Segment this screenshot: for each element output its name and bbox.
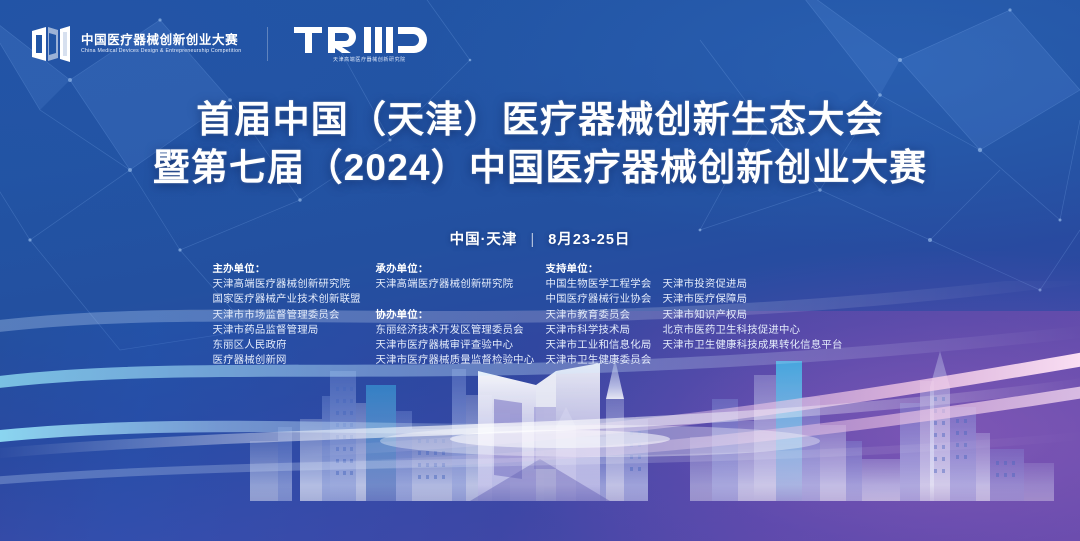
brand-title-cn: 中国医疗器械创新创业大赛: [81, 34, 241, 47]
organizer-item: 东丽区人民政府: [213, 338, 376, 353]
main-title: 首届中国（天津）医疗器械创新生态大会 暨第七届（2024）中国医疗器械创新创业大…: [0, 96, 1080, 192]
title-line-2: 暨第七届（2024）中国医疗器械创新创业大赛: [0, 144, 1080, 192]
organizer-item: 天津市卫生健康科技成果转化信息平台: [663, 338, 868, 353]
organizer-item: 中国医疗器械行业协会: [546, 292, 663, 307]
organizer-column-support-continued: 天津市投资促进局 天津市医疗保障局 天津市知识产权局 北京市医药卫生科技促进中心…: [663, 262, 868, 368]
organizer-item: 天津市市场监督管理委员会: [213, 308, 376, 323]
event-poster: 中国医疗器械创新创业大赛 China Medical Devices Desig…: [0, 0, 1080, 541]
organizer-heading: 协办单位：: [376, 308, 546, 323]
triid-wordmark-icon: [294, 25, 444, 55]
organizer-item: 天津市科学技术局: [546, 323, 663, 338]
title-line-1: 首届中国（天津）医疗器械创新生态大会: [0, 96, 1080, 144]
event-location: 中国·天津: [450, 232, 518, 248]
organizer-item: 天津市医疗保障局: [663, 292, 868, 307]
organizer-heading: 支持单位：: [546, 262, 663, 277]
organizer-item: 东丽经济技术开发区管理委员会: [376, 323, 546, 338]
organizer-heading: 承办单位：: [376, 262, 546, 277]
meta-separator: |: [530, 232, 535, 248]
organizer-column-support: 支持单位： 中国生物医学工程学会 中国医疗器械行业协会 天津市教育委员会 天津市…: [546, 262, 663, 368]
organizer-item: 国家医疗器械产业技术创新联盟: [213, 292, 376, 307]
triid-subtitle-cn: 天津高端医疗器械创新研究院: [333, 58, 406, 63]
event-date: 8月23-25日: [548, 232, 630, 248]
triid-brand[interactable]: 天津高端医疗器械创新研究院: [294, 25, 444, 63]
organizer-item: 天津高端医疗器械创新研究院: [376, 277, 546, 292]
organizer-item: 中国生物医学工程学会: [546, 277, 663, 292]
organizer-heading: 主办单位：: [213, 262, 376, 277]
organizer-item: 天津高端医疗器械创新研究院: [213, 277, 376, 292]
organizer-item: 天津市卫生健康委员会: [546, 353, 663, 368]
organizer-item: 天津市医疗器械审评查验中心: [376, 338, 546, 353]
open-book-door-logo: [30, 24, 72, 64]
organizer-column-undertaker: 承办单位： 天津高端医疗器械创新研究院 协办单位： 东丽经济技术开发区管理委员会…: [376, 262, 546, 368]
event-meta: 中国·天津 | 8月23-25日: [0, 228, 1080, 249]
brand-title-en: China Medical Devices Design & Entrepren…: [81, 49, 241, 54]
organizer-item: 天津市教育委员会: [546, 308, 663, 323]
city-skyline-silhouette: [0, 341, 1080, 541]
organizer-item: 天津市药品监督管理局: [213, 323, 376, 338]
organizer-item: 天津市投资促进局: [663, 277, 868, 292]
organizer-column-host: 主办单位： 天津高端医疗器械创新研究院 国家医疗器械产业技术创新联盟 天津市市场…: [213, 262, 376, 368]
column-spacer: [376, 292, 546, 307]
organizer-item: 医疗器械创新网: [213, 353, 376, 368]
open-book-door-monument: [470, 363, 610, 501]
organizer-item: 天津市医疗器械质量监督检验中心: [376, 353, 546, 368]
organizer-item: 天津市工业和信息化局: [546, 338, 663, 353]
organizer-item: 北京市医药卫生科技促进中心: [663, 323, 868, 338]
competition-brand[interactable]: 中国医疗器械创新创业大赛 China Medical Devices Desig…: [30, 24, 241, 64]
logo-divider: [267, 27, 268, 61]
organizer-item: 天津市知识产权局: [663, 308, 868, 323]
header-logos: 中国医疗器械创新创业大赛 China Medical Devices Desig…: [30, 24, 444, 64]
organizer-block: 主办单位： 天津高端医疗器械创新研究院 国家医疗器械产业技术创新联盟 天津市市场…: [0, 262, 1080, 368]
